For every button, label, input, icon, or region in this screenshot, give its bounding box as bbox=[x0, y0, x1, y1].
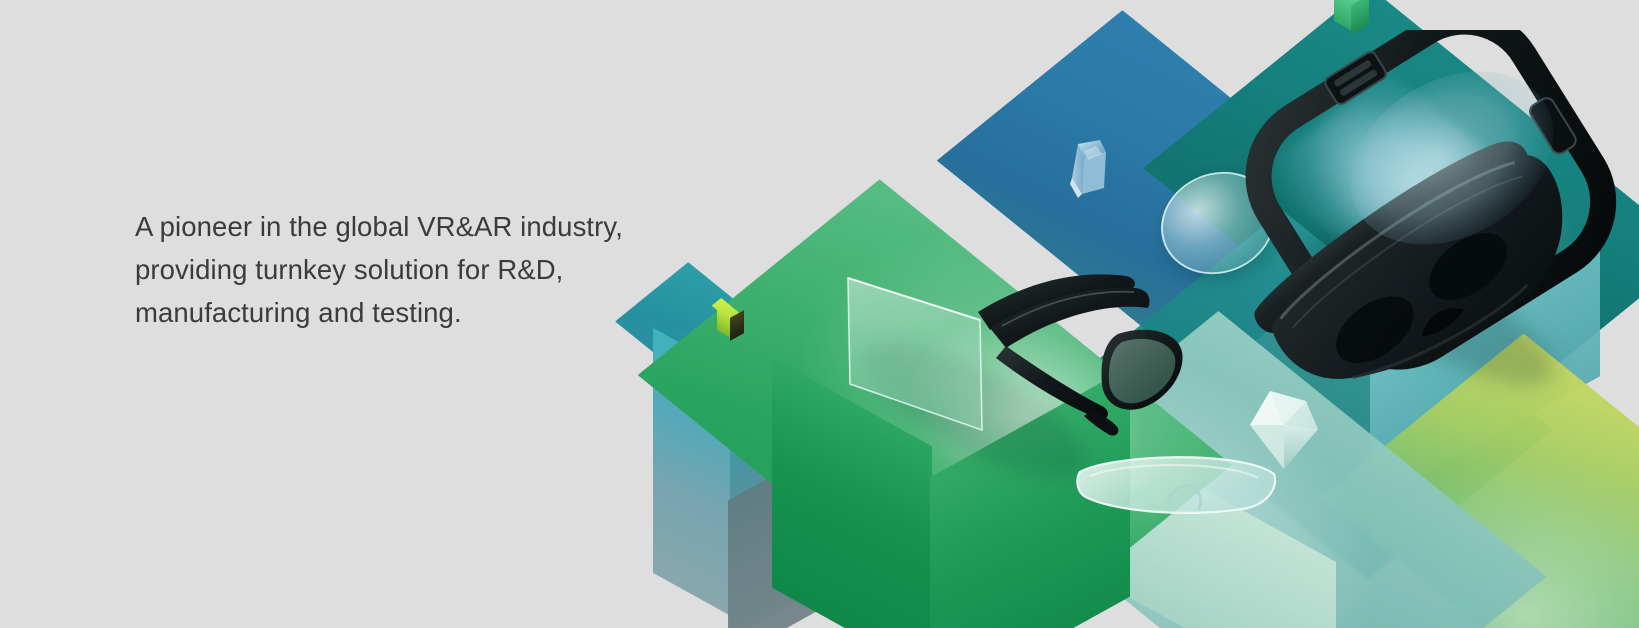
ar-glasses bbox=[830, 260, 1230, 480]
prism-small-icon bbox=[1068, 138, 1112, 202]
vr-headset bbox=[1220, 30, 1639, 390]
hero-banner: A pioneer in the global VR&AR industry, … bbox=[0, 0, 1639, 628]
hero-artwork bbox=[600, 0, 1639, 628]
